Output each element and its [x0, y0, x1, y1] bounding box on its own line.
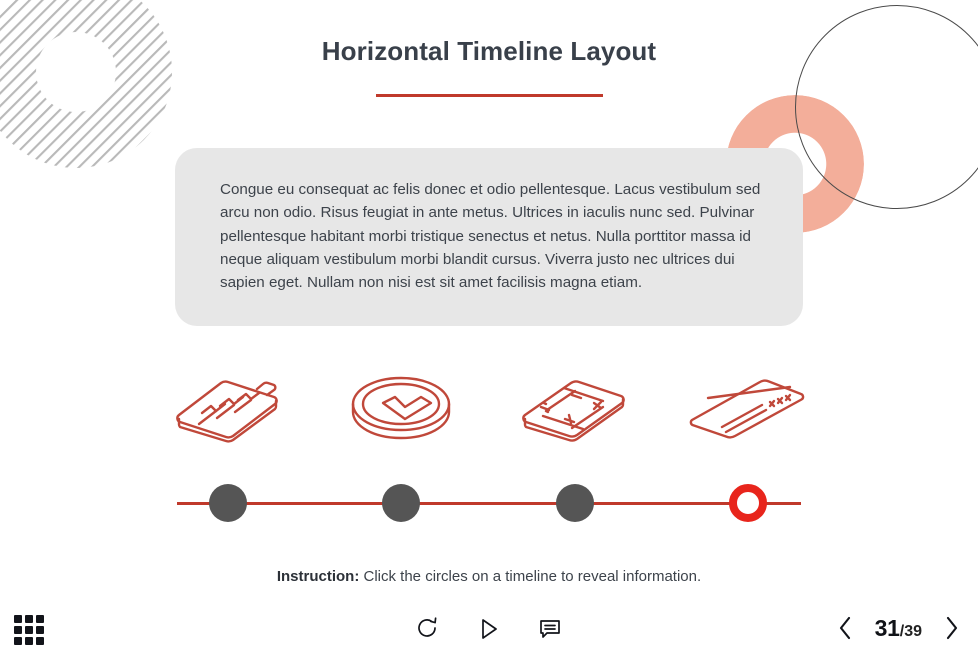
- prev-slide-button[interactable]: [833, 612, 857, 644]
- timeline-node-2[interactable]: [382, 484, 420, 522]
- comment-icon: [538, 616, 562, 642]
- timeline-track: [177, 502, 801, 505]
- timeline-node-3[interactable]: [556, 484, 594, 522]
- instruction-text: Click the circles on a timeline to revea…: [359, 568, 701, 585]
- toolbar-right-group: 31/39: [833, 612, 964, 644]
- clipboard-checklist-icon: [153, 368, 303, 448]
- grid-menu-button[interactable]: [12, 613, 46, 647]
- calculator-icon: [500, 368, 650, 448]
- instruction-label: Instruction:: [277, 568, 360, 585]
- timeline-icon-row: [0, 368, 978, 448]
- timeline-node-1[interactable]: [209, 484, 247, 522]
- coin-check-icon: [326, 368, 476, 448]
- next-slide-button[interactable]: [940, 612, 964, 644]
- replay-icon: [416, 616, 440, 642]
- slide-header: Horizontal Timeline Layout: [0, 36, 978, 97]
- content-body-text: Congue eu consequat ac felis donec et od…: [220, 178, 777, 294]
- instruction: Instruction: Click the circles on a time…: [0, 568, 978, 585]
- timeline: [0, 475, 978, 531]
- chevron-right-icon: [942, 614, 962, 642]
- replay-button[interactable]: [414, 614, 442, 644]
- credit-card-icon: [673, 368, 823, 448]
- decorative-background: [0, 0, 978, 656]
- page-counter: 31/39: [875, 615, 922, 642]
- content-panel: Congue eu consequat ac felis donec et od…: [175, 148, 803, 326]
- toolbar-center-group: [414, 614, 564, 644]
- bottom-toolbar: 31/39: [0, 600, 978, 656]
- toolbar-left-group: [12, 613, 46, 647]
- timeline-node-4-active[interactable]: [729, 484, 767, 522]
- page-title: Horizontal Timeline Layout: [0, 36, 978, 67]
- current-page-number: 31: [875, 615, 900, 641]
- total-pages: 39: [904, 623, 922, 640]
- chevron-left-icon: [835, 614, 855, 642]
- comment-button[interactable]: [536, 614, 564, 644]
- grid-menu-icon: [14, 615, 44, 645]
- play-icon: [478, 616, 500, 642]
- title-underline: [376, 94, 603, 97]
- play-button[interactable]: [476, 614, 502, 644]
